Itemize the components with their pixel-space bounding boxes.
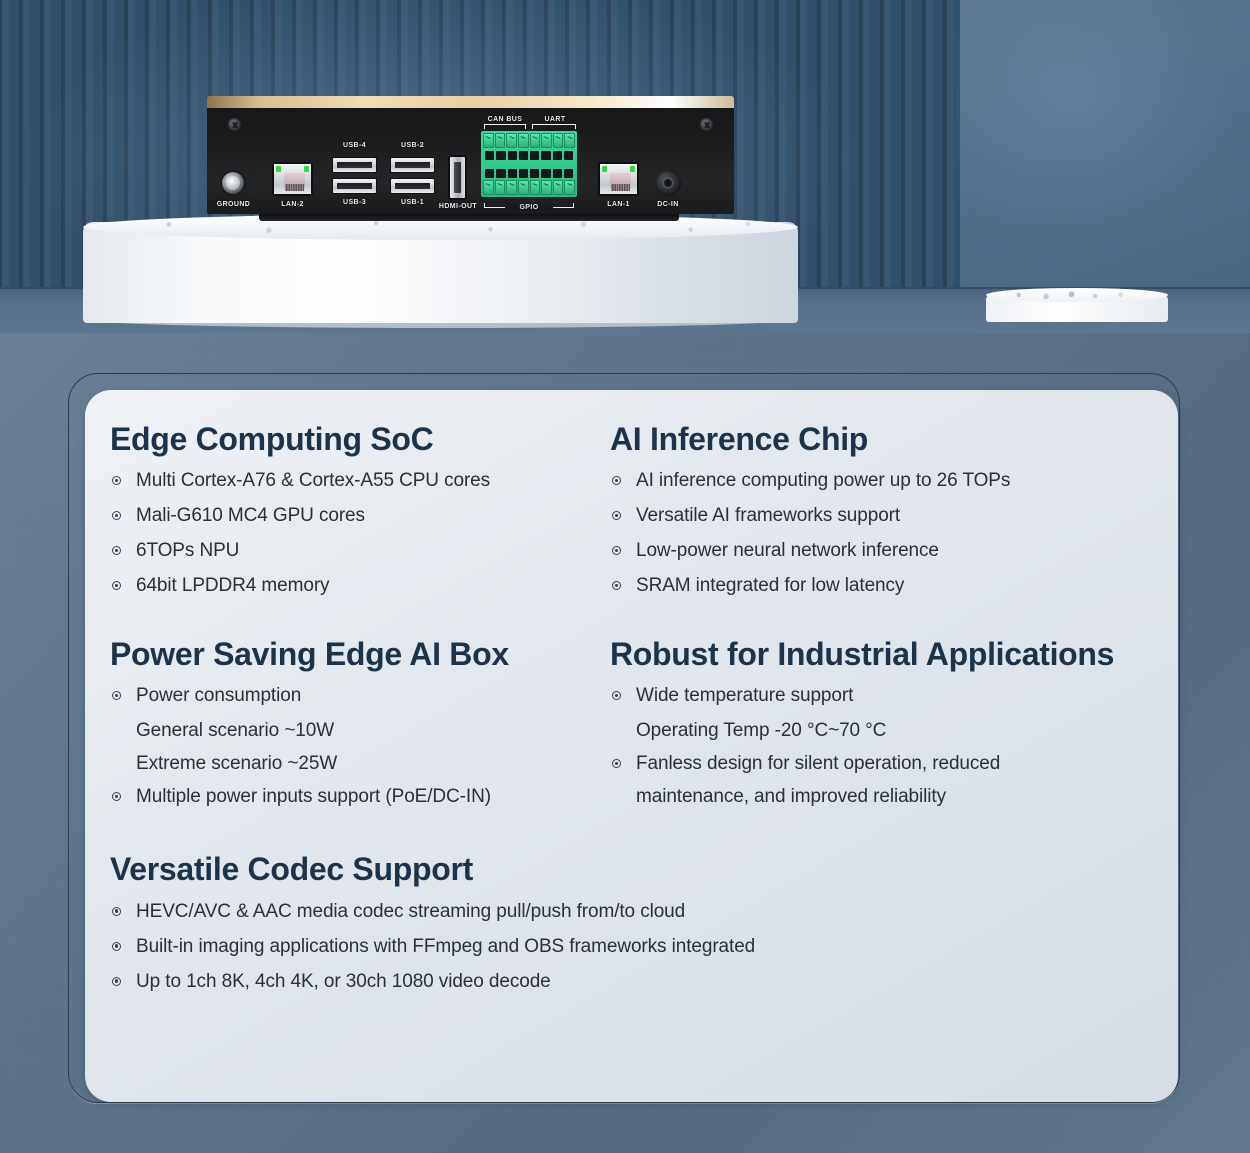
terminal-hole xyxy=(541,169,550,178)
section-title: AI Inference Chip xyxy=(610,422,1158,457)
spec-row-1: Edge Computing SoC Multi Cortex-A76 & Co… xyxy=(110,422,1158,611)
list-item-sub: Extreme scenario ~25W xyxy=(110,754,610,773)
terminal-screw xyxy=(564,133,575,148)
bullet-icon xyxy=(112,792,121,801)
list-item: Mali-G610 MC4 GPU cores xyxy=(110,506,610,525)
terminal-hole xyxy=(485,169,494,178)
bullet-icon xyxy=(612,546,621,555)
spec-row-2: Power Saving Edge AI Box Power consumpti… xyxy=(110,637,1158,822)
spec-section-versatile-codec-support: Versatile Codec Support HEVC/AVC & AAC m… xyxy=(110,852,1158,990)
list-item: Up to 1ch 8K, 4ch 4K, or 30ch 1080 video… xyxy=(110,972,1158,991)
uart-bracket xyxy=(532,124,576,129)
gpio-terminal-block xyxy=(481,131,577,197)
device-base-rail xyxy=(259,213,679,221)
lan1-pins xyxy=(611,184,630,191)
bullet-icon xyxy=(612,511,621,520)
hdmi-out-port xyxy=(448,155,467,200)
secondary-pedestal-terrazzo-top xyxy=(986,288,1168,302)
list-item-text: Mali-G610 MC4 GPU cores xyxy=(136,505,365,526)
section-bullet-list: AI inference computing power up to 26 TO… xyxy=(610,471,1158,595)
list-item: Built-in imaging applications with FFmpe… xyxy=(110,937,1158,956)
list-item-text: Extreme scenario ~25W xyxy=(136,753,337,774)
right-wall-glow xyxy=(955,0,1250,287)
bullet-icon xyxy=(612,691,621,700)
hero-product-photo: GROUND LAN-2 USB-4 USB-3 USB-2 USB-1 HDM… xyxy=(0,0,1250,333)
list-item: HEVC/AVC & AAC media codec streaming pul… xyxy=(110,902,1158,921)
bullet-icon xyxy=(112,511,121,520)
terminal-hole xyxy=(530,151,539,160)
list-item-text: 6TOPs NPU xyxy=(136,540,239,561)
list-item: Fanless design for silent operation, red… xyxy=(610,754,1158,806)
ground-port-label: GROUND xyxy=(206,201,261,208)
terminal-screw xyxy=(483,133,494,148)
terminal-screw xyxy=(541,180,552,195)
dc-in-port-label: DC-IN xyxy=(643,201,693,208)
bullet-icon xyxy=(112,476,121,485)
terminal-hole xyxy=(508,169,517,178)
terminal-hole xyxy=(496,151,505,160)
list-item: Versatile AI frameworks support xyxy=(610,506,1158,525)
bullet-icon xyxy=(612,759,621,768)
list-item: Multi Cortex-A76 & Cortex-A55 CPU cores xyxy=(110,471,610,490)
section-title: Power Saving Edge AI Box xyxy=(110,637,610,672)
terminal-screw xyxy=(518,133,529,148)
list-item-text: General scenario ~10W xyxy=(136,720,334,741)
section-title: Edge Computing SoC xyxy=(110,422,610,457)
terminal-hole xyxy=(564,151,573,160)
terminal-screw xyxy=(506,133,517,148)
spec-section-power-saving-edge-ai-box: Power Saving Edge AI Box Power consumpti… xyxy=(110,637,610,822)
section-title: Robust for Industrial Applications xyxy=(610,637,1158,672)
bullet-icon xyxy=(112,977,121,986)
usb1-port-label: USB-1 xyxy=(390,199,435,206)
list-item-text: Wide temperature support xyxy=(636,685,853,706)
section-bullet-list: Multi Cortex-A76 & Cortex-A55 CPU cores … xyxy=(110,471,610,595)
faceplate-screw-left-icon xyxy=(228,118,241,131)
list-item-text: Multiple power inputs support (PoE/DC-IN… xyxy=(136,786,491,807)
terminal-hole xyxy=(564,169,573,178)
terminal-screw xyxy=(495,133,506,148)
usb1-port xyxy=(390,178,435,194)
spacer xyxy=(110,611,1158,637)
list-item: Power consumption xyxy=(110,686,610,705)
terminal-screw xyxy=(518,180,529,195)
canbus-bracket xyxy=(484,124,526,129)
terminal-screw xyxy=(483,180,494,195)
spec-card: Edge Computing SoC Multi Cortex-A76 & Co… xyxy=(85,390,1178,1102)
list-item-text: HEVC/AVC & AAC media codec streaming pul… xyxy=(136,901,685,922)
terminal-screw xyxy=(564,180,575,195)
spec-section-ai-inference-chip: AI Inference Chip AI inference computing… xyxy=(610,422,1158,611)
list-item-sub: Operating Temp -20 °C~70 °C xyxy=(610,721,1158,740)
hdmi-out-port-label: HDMI-OUT xyxy=(432,203,484,210)
terminal-hole xyxy=(508,151,517,160)
list-item-text: SRAM integrated for low latency xyxy=(636,575,904,596)
terminal-screw xyxy=(530,180,541,195)
list-item-text: Multi Cortex-A76 & Cortex-A55 CPU cores xyxy=(136,470,490,491)
terminal-hole xyxy=(553,151,562,160)
bullet-icon xyxy=(612,581,621,590)
list-item-text: Versatile AI frameworks support xyxy=(636,505,900,526)
usb4-port xyxy=(332,157,377,173)
list-item-sub: General scenario ~10W xyxy=(110,721,610,740)
list-item: 6TOPs NPU xyxy=(110,541,610,560)
terminal-screw xyxy=(553,133,564,148)
section-bullet-list: Power consumption General scenario ~10W … xyxy=(110,686,610,806)
lan2-port-label: LAN-2 xyxy=(265,201,320,208)
list-item-text: Up to 1ch 8K, 4ch 4K, or 30ch 1080 video… xyxy=(136,971,551,992)
lan1-led-right-icon xyxy=(630,166,635,172)
device-io-faceplate xyxy=(207,108,734,214)
terminal-screws-bottom-row xyxy=(483,180,575,195)
bullet-icon xyxy=(112,942,121,951)
terminal-screw xyxy=(553,180,564,195)
terminal-screws-top-row xyxy=(483,133,575,148)
list-item-text: Power consumption xyxy=(136,685,301,706)
list-item-text: AI inference computing power up to 26 TO… xyxy=(636,470,1010,491)
usb4-port-label: USB-4 xyxy=(332,142,377,149)
list-item: Multiple power inputs support (PoE/DC-IN… xyxy=(110,787,610,806)
bullet-icon xyxy=(112,691,121,700)
ground-port xyxy=(222,172,244,194)
usb3-port-label: USB-3 xyxy=(332,199,377,206)
terminal-hole xyxy=(485,151,494,160)
terminal-hole xyxy=(519,169,528,178)
list-item: SRAM integrated for low latency xyxy=(610,576,1158,595)
lan1-led-left-icon xyxy=(602,166,607,172)
list-item: Wide temperature support xyxy=(610,686,1158,705)
usb2-port xyxy=(390,157,435,173)
list-item-text: 64bit LPDDR4 memory xyxy=(136,575,329,596)
list-item: Low-power neural network inference xyxy=(610,541,1158,560)
bullet-icon xyxy=(112,907,121,916)
list-item-text: Low-power neural network inference xyxy=(636,540,939,561)
lan2-led-left-icon xyxy=(276,166,281,172)
dc-in-port xyxy=(655,170,681,196)
list-item-text: Fanless design for silent operation, red… xyxy=(636,753,1000,774)
spec-section-robust-for-industrial-applications: Robust for Industrial Applications Wide … xyxy=(610,637,1158,822)
usb2-port-label: USB-2 xyxy=(390,142,435,149)
canbus-label: CAN BUS xyxy=(481,116,529,123)
section-title: Versatile Codec Support xyxy=(110,852,1158,887)
lan2-led-right-icon xyxy=(304,166,309,172)
terminal-hole xyxy=(496,169,505,178)
bullet-icon xyxy=(612,476,621,485)
usb3-port xyxy=(332,178,377,194)
lan1-port xyxy=(598,162,639,196)
terminal-holes-bottom-row xyxy=(485,169,573,178)
bullet-icon xyxy=(112,546,121,555)
faceplate-screw-right-icon xyxy=(700,118,713,131)
gpio-label: GPIO xyxy=(505,204,553,211)
spec-section-edge-computing-soc: Edge Computing SoC Multi Cortex-A76 & Co… xyxy=(110,422,610,611)
section-bullet-list: Wide temperature support Operating Temp … xyxy=(610,686,1158,806)
terminal-screw xyxy=(495,180,506,195)
terminal-hole xyxy=(553,169,562,178)
list-item-text: Operating Temp -20 °C~70 °C xyxy=(636,720,886,741)
terminal-hole xyxy=(530,169,539,178)
bullet-icon xyxy=(112,581,121,590)
lan1-port-label: LAN-1 xyxy=(591,201,646,208)
list-item: AI inference computing power up to 26 TO… xyxy=(610,471,1158,490)
terminal-hole xyxy=(541,151,550,160)
lan2-port xyxy=(272,162,313,196)
terminal-holes-top-row xyxy=(485,151,573,160)
terminal-screw xyxy=(530,133,541,148)
terminal-screw xyxy=(541,133,552,148)
list-item-text: Built-in imaging applications with FFmpe… xyxy=(136,936,755,957)
spec-columns: Edge Computing SoC Multi Cortex-A76 & Co… xyxy=(110,422,1158,1007)
section-bullet-list: HEVC/AVC & AAC media codec streaming pul… xyxy=(110,902,1158,991)
list-item: 64bit LPDDR4 memory xyxy=(110,576,610,595)
terminal-hole xyxy=(519,151,528,160)
list-item-text-continued: maintenance, and improved reliability xyxy=(636,787,1158,806)
terminal-screw xyxy=(506,180,517,195)
uart-label: UART xyxy=(531,116,579,123)
lan2-pins xyxy=(285,184,304,191)
